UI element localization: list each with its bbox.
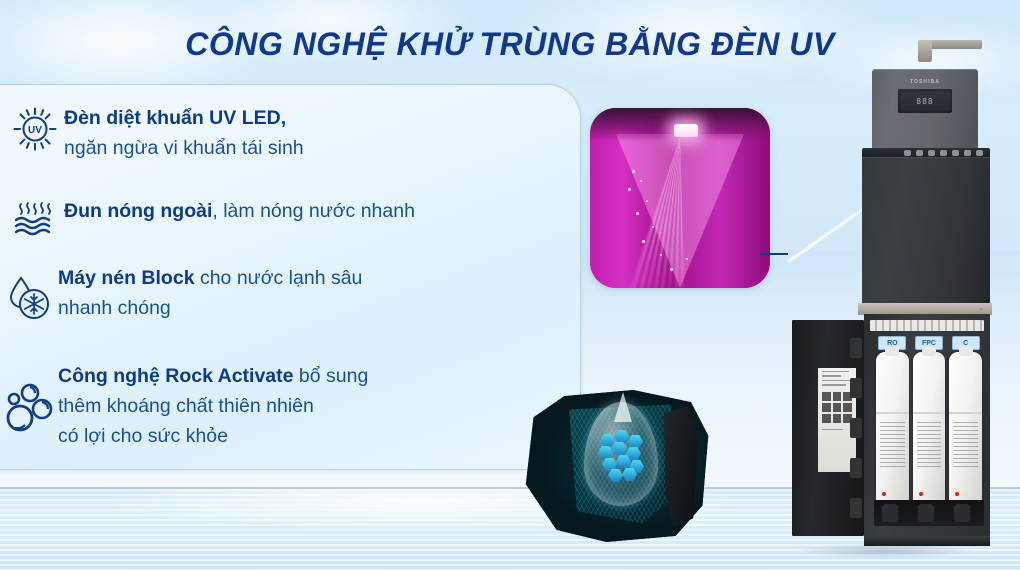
feature-item-block-compressor: Máy nén Block cho nước lạnh sâu nhanh ch… [0, 266, 362, 323]
control-button[interactable] [904, 150, 911, 156]
feature-text: Máy nén Block cho nước lạnh sâu nhanh ch… [58, 263, 362, 323]
svg-text:UV: UV [28, 125, 42, 136]
brand-logo: TOSHIBA [872, 79, 978, 85]
control-button[interactable] [952, 150, 959, 156]
droplet-snowflake-icon [0, 274, 58, 322]
feature-line2: ngăn ngừa vi khuẩn tái sinh [64, 137, 304, 159]
uv-sun-icon: UV [6, 106, 64, 152]
product-filter-cabinet: RO FPC C [790, 314, 1000, 546]
feature-text: Đèn diệt khuẩn UV LED, ngăn ngừa vi khuẩ… [64, 103, 304, 163]
feature-line2: thêm khoáng chất thiên nhiên [58, 395, 314, 417]
feature-bold-text: Máy nén Block [58, 267, 195, 289]
steam-water-icon [6, 198, 64, 238]
mineral-bubbles-icon [0, 382, 58, 434]
cabinet-interior: RO FPC C [864, 314, 990, 540]
feature-text: Đun nóng ngoài, làm nóng nước nhanh [64, 196, 415, 226]
control-display[interactable]: 888 [898, 89, 952, 113]
filter-cartridges [876, 352, 982, 522]
rock-activate-mineral-photo [512, 382, 724, 550]
feature-bold-text: Đèn diệt khuẩn UV LED, [64, 107, 286, 129]
page-title: CÔNG NGHỆ KHỬ TRÙNG BẰNG ĐÈN UV [0, 26, 1020, 63]
dispenser-spout-head [918, 40, 932, 62]
feature-text: Công nghệ Rock Activate bổ sung thêm kho… [58, 361, 368, 451]
control-button[interactable] [940, 150, 947, 156]
control-button[interactable] [976, 150, 983, 156]
uv-lamp-beam-photo [590, 108, 770, 288]
feature-bold-text: Công nghệ Rock Activate [58, 365, 293, 387]
control-buttons[interactable] [904, 149, 986, 157]
feature-item-rock-activate: Công nghệ Rock Activate bổ sung thêm kho… [0, 364, 368, 451]
base-label: • [980, 306, 982, 311]
feature-line3: có lợi cho sức khỏe [58, 425, 228, 447]
feature-rest-text: cho nước lạnh sâu [195, 267, 363, 289]
pump-assembly [874, 500, 984, 526]
feature-rest-text: bổ sung [293, 365, 368, 387]
filter-cartridge [949, 352, 982, 522]
feature-line2: nhanh chóng [58, 297, 171, 319]
control-button[interactable] [964, 150, 971, 156]
display-value: 888 [916, 97, 933, 106]
feature-item-external-heating: Đun nóng ngoài, làm nóng nước nhanh [6, 196, 415, 238]
dispenser-spout-arm [924, 40, 982, 49]
feature-rest-text: , làm nóng nước nhanh [212, 200, 415, 222]
filter-cartridge [913, 352, 946, 522]
control-button[interactable] [928, 150, 935, 156]
filter-cartridge [876, 352, 909, 522]
cabinet-open-door[interactable] [792, 320, 864, 536]
promo-banner: CÔNG NGHỆ KHỬ TRÙNG BẰNG ĐÈN UV UV [0, 0, 1020, 570]
connector-marker [760, 253, 788, 255]
feature-bold-text: Đun nóng ngoài [64, 200, 212, 222]
product-floor-shadow [760, 540, 1010, 562]
product-body-panel [862, 157, 990, 307]
feature-item-uv-led: UV Đèn diệt khuẩn UV LED, [6, 106, 304, 163]
cabinet-top-strip [870, 320, 984, 331]
control-button[interactable] [916, 150, 923, 156]
mineral-hexagons [598, 430, 646, 482]
